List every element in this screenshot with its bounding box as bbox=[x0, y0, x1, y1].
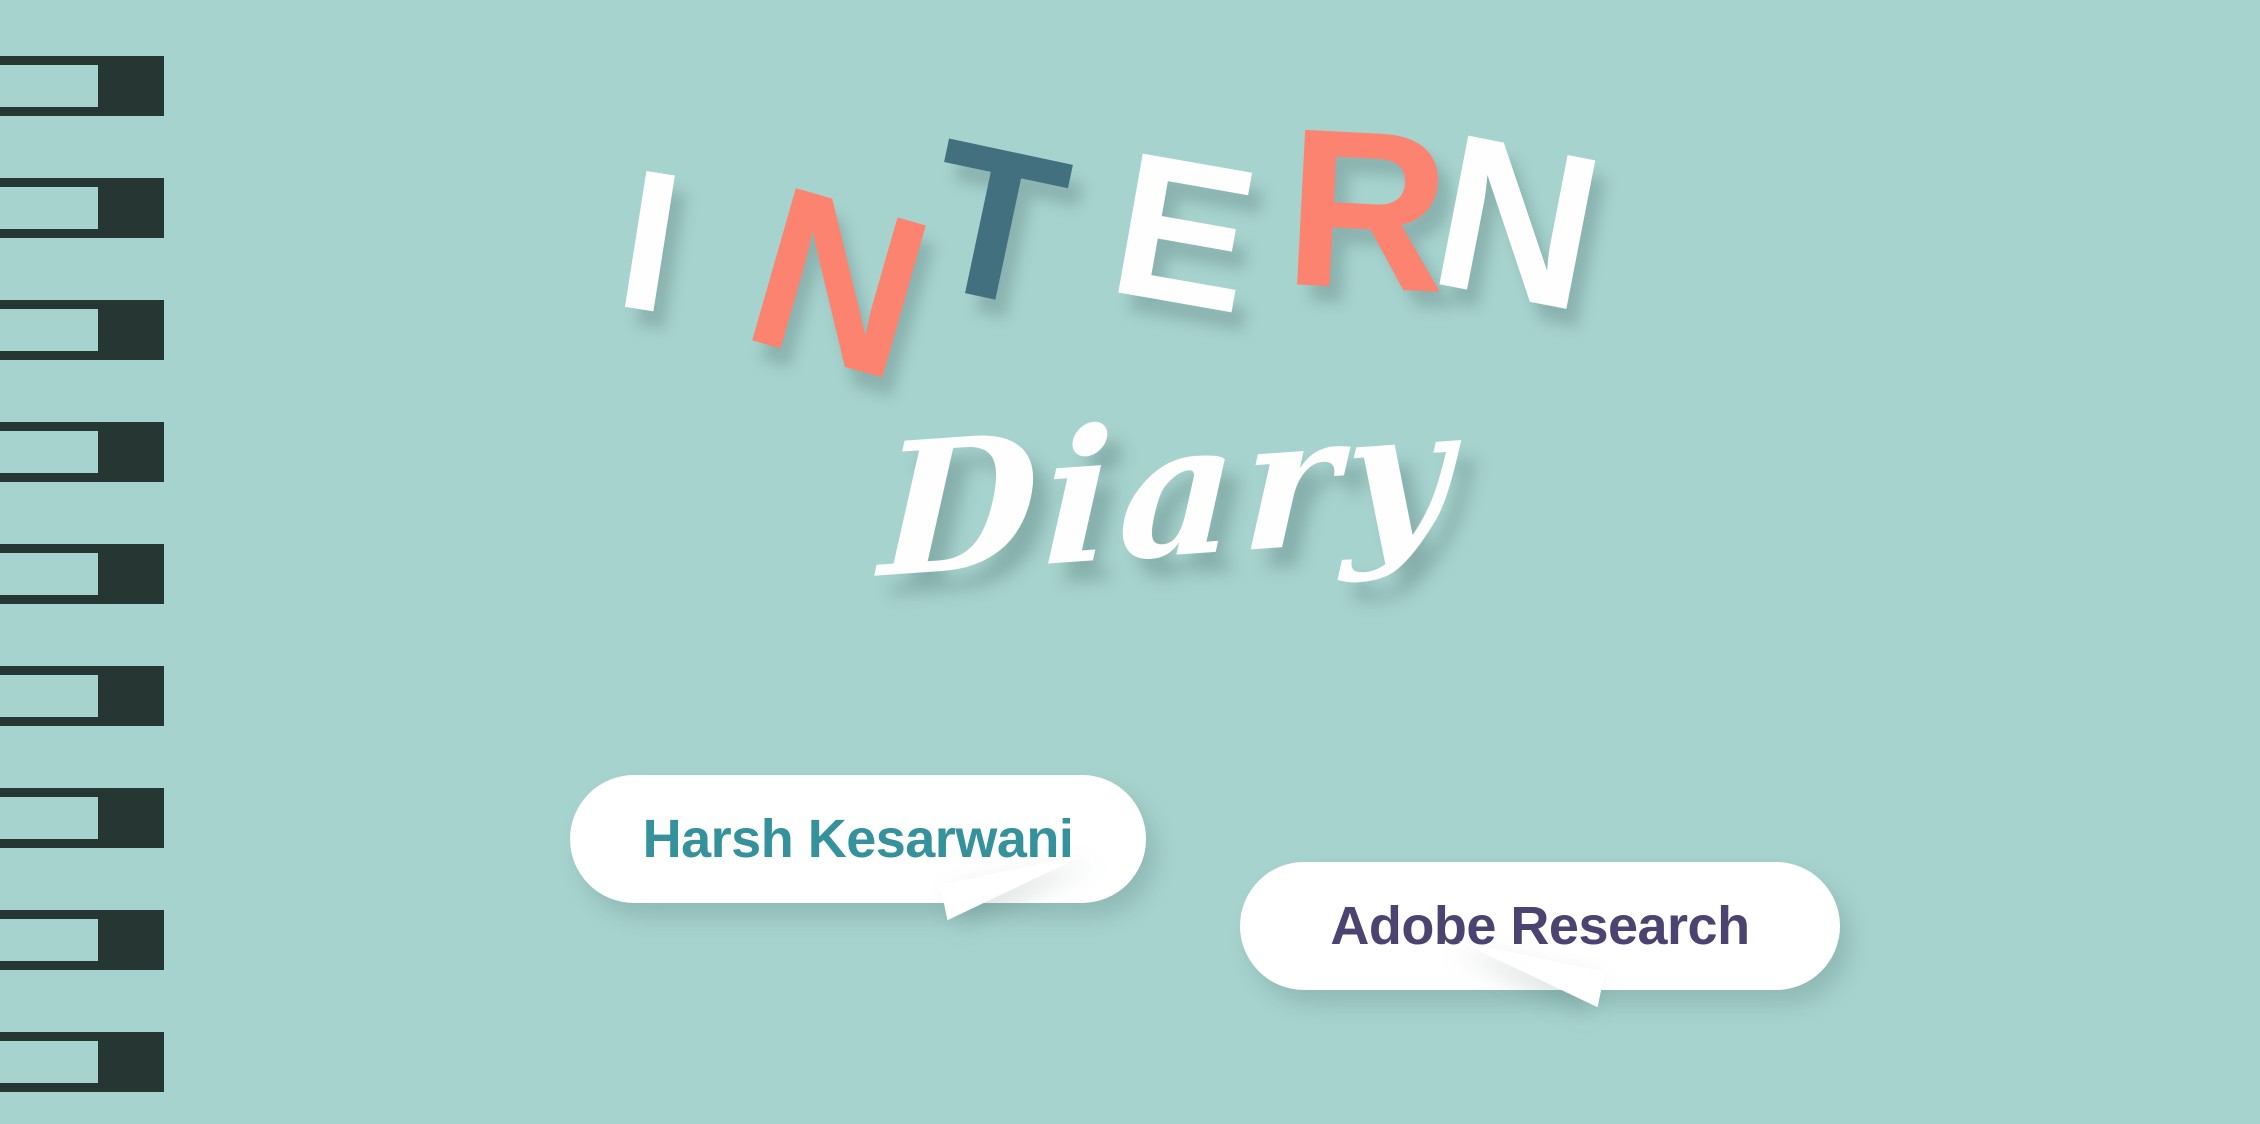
binding-ring-hole bbox=[0, 797, 98, 839]
speech-bubble-organization-label: Adobe Research bbox=[1330, 895, 1749, 957]
binding-ring bbox=[0, 788, 164, 848]
binding-ring bbox=[0, 422, 164, 482]
binding-ring bbox=[0, 910, 164, 970]
title-letter-i: I bbox=[607, 139, 693, 345]
binding-ring bbox=[0, 666, 164, 726]
poster-canvas: I N T E R N Diary Harsh Kesarwani Adobe … bbox=[0, 0, 2260, 1124]
binding-ring bbox=[0, 178, 164, 238]
binding-ring-hole bbox=[0, 553, 98, 595]
binding-ring bbox=[0, 56, 164, 116]
title-letter-e: E bbox=[1099, 120, 1269, 346]
binding-ring bbox=[0, 1032, 164, 1092]
binding-ring-hole bbox=[0, 65, 98, 107]
binding-ring-hole bbox=[0, 309, 98, 351]
binding-ring-hole bbox=[0, 431, 98, 473]
spiral-notebook-binding bbox=[0, 0, 170, 1124]
speech-bubble-person-label: Harsh Kesarwani bbox=[643, 808, 1074, 870]
binding-ring bbox=[0, 300, 164, 360]
binding-ring-hole bbox=[0, 1041, 98, 1083]
binding-ring-hole bbox=[0, 919, 98, 961]
binding-ring-hole bbox=[0, 675, 98, 717]
binding-ring-hole bbox=[0, 187, 98, 229]
binding-ring bbox=[0, 544, 164, 604]
page-subtitle-diary: Diary bbox=[878, 379, 1460, 602]
title-letter-t: T bbox=[909, 105, 1082, 343]
